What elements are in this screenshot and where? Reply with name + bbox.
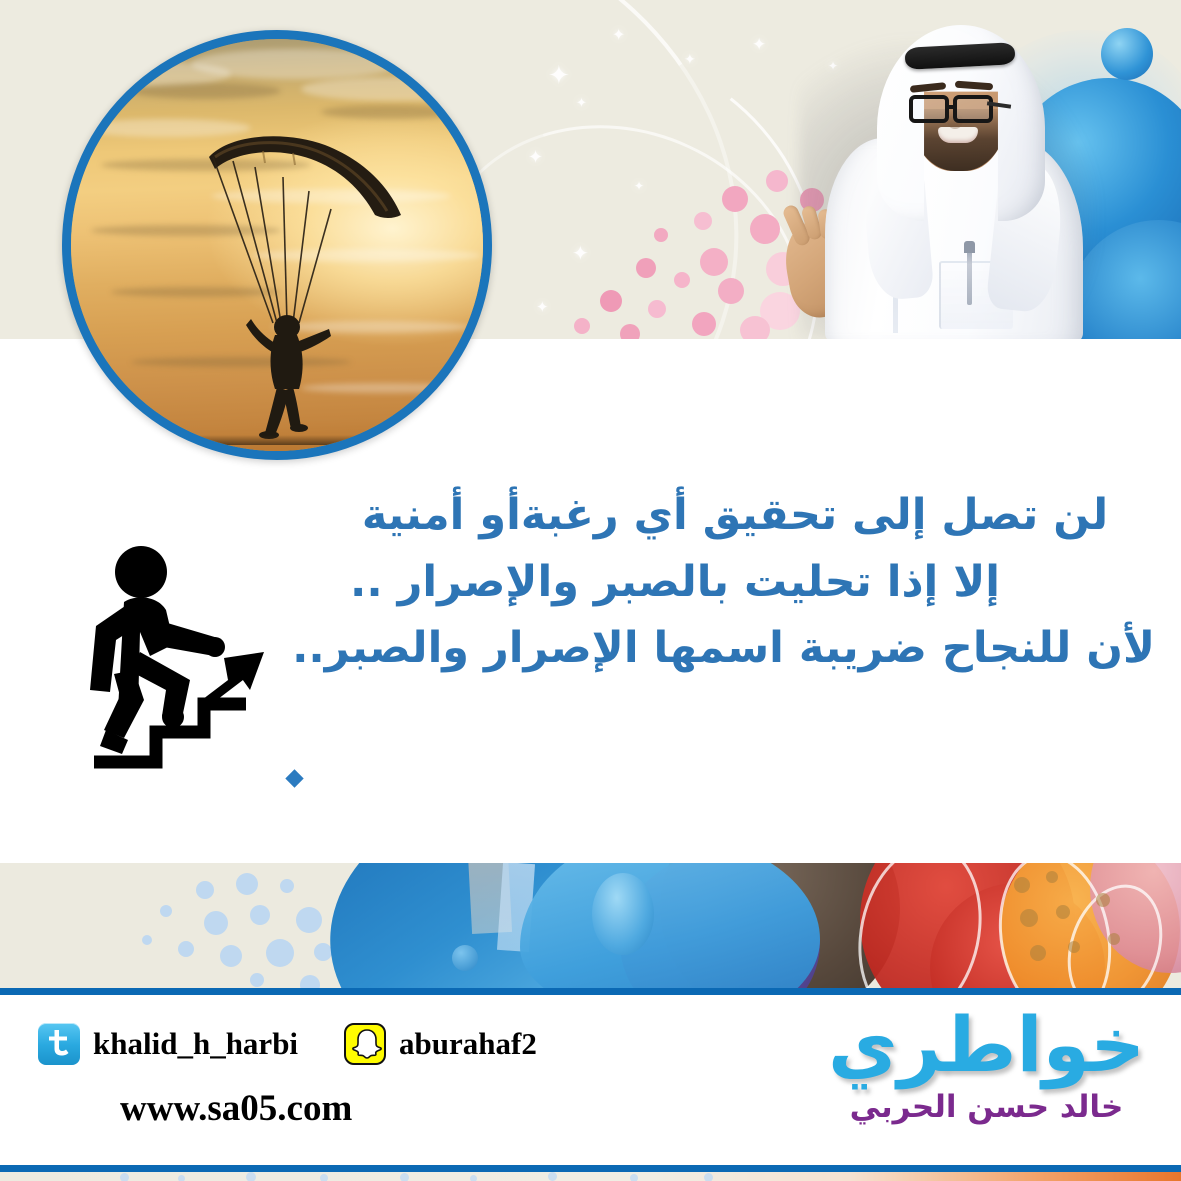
cloud: [321, 105, 461, 119]
eyeglasses-right-lens: [953, 95, 993, 123]
sparkle-icon: ✦: [576, 96, 587, 109]
divider-line-lower: [0, 1165, 1181, 1172]
snapchat-handle[interactable]: aburahaf2: [399, 1026, 537, 1062]
pink-dot: [674, 272, 690, 288]
bottom-decorative-band: [0, 863, 1181, 988]
horizon-line: [71, 435, 483, 445]
website-url[interactable]: www.sa05.com: [120, 1087, 352, 1130]
parachute-lines: [199, 151, 339, 331]
pink-dot: [750, 214, 780, 244]
eyeglasses-left-lens: [909, 95, 949, 123]
cloud: [131, 83, 281, 99]
mouth: [938, 127, 978, 143]
social-item-snapchat[interactable]: aburahaf2: [344, 1023, 537, 1065]
skydiver-silhouette: [243, 307, 329, 435]
sparkle-icon: ✦: [684, 52, 696, 66]
pen: [967, 247, 972, 305]
mid-blue-blob-shape: [520, 863, 820, 988]
pink-dot: [718, 278, 744, 304]
pink-dot: [692, 312, 716, 336]
pink-dot: [654, 228, 668, 242]
pink-dot: [648, 300, 666, 318]
pink-dot: [636, 258, 656, 278]
pink-dot: [620, 324, 640, 339]
pink-dot: [740, 316, 770, 339]
brand-block: خواطري خالد حسن الحربي: [828, 1005, 1145, 1125]
social-handles-row: khalid_h_harbi aburahaf2: [38, 1023, 537, 1065]
pink-dot: [694, 212, 712, 230]
footer: khalid_h_harbi aburahaf2 www.sa05.com خو…: [0, 995, 1181, 1165]
quote-block: لن تصل إلى تحقيق أي رغبةأو أمنية إلا إذا…: [315, 482, 1155, 682]
sparkle-icon: ✦: [752, 36, 766, 53]
brand-logo-text: خواطري: [828, 1005, 1145, 1085]
quote-line-1: لن تصل إلى تحقيق أي رغبةأو أمنية: [315, 482, 1155, 549]
sparkle-icon: ✦: [548, 62, 570, 88]
sparkle-icon: ✦: [634, 180, 644, 192]
quote-line-2: إلا إذا تحليت بالصبر والإصرار ..: [315, 549, 1155, 616]
bottom-decorative-strip: [0, 1172, 1181, 1181]
sparkle-icon: ✦: [572, 244, 589, 264]
pink-dot: [700, 248, 728, 276]
social-item-twitter[interactable]: khalid_h_harbi: [38, 1023, 298, 1065]
snapchat-icon[interactable]: [344, 1023, 386, 1065]
cloud: [301, 77, 491, 101]
pink-dot: [600, 290, 622, 312]
man-in-thobe-photo: [781, 9, 1111, 339]
ochre-halftone-dots: [1000, 863, 1180, 988]
cloud: [191, 49, 401, 79]
small-blue-diamond-accent: [285, 769, 303, 787]
pink-dot: [574, 318, 590, 334]
sparkle-icon: ✦: [612, 28, 625, 44]
twitter-icon[interactable]: [38, 1023, 80, 1065]
parachutist-sunset-photo: [62, 30, 492, 460]
poster-canvas: ✦ ✦ ✦ ✦ ✦ ✦ ✦ ✦ ✦ ✦: [0, 0, 1181, 1181]
divider-line-upper: [0, 988, 1181, 995]
small-blue-bubble: [452, 945, 478, 971]
sparkle-icon: ✦: [536, 300, 549, 315]
highlight-blue-bubble: [592, 873, 654, 955]
person-climbing-stairs-icon: [78, 540, 288, 810]
quote-line-3: لأن للنجاح ضريبة اسمها الإصرار والصبر..: [315, 615, 1155, 682]
eyeglasses-bridge: [947, 105, 957, 109]
pen-clip: [964, 241, 975, 253]
brand-author-name: خالد حسن الحربي: [828, 1089, 1145, 1125]
pink-dot: [722, 186, 748, 212]
sparkle-icon: ✦: [528, 148, 543, 166]
twitter-handle[interactable]: khalid_h_harbi: [93, 1026, 298, 1062]
